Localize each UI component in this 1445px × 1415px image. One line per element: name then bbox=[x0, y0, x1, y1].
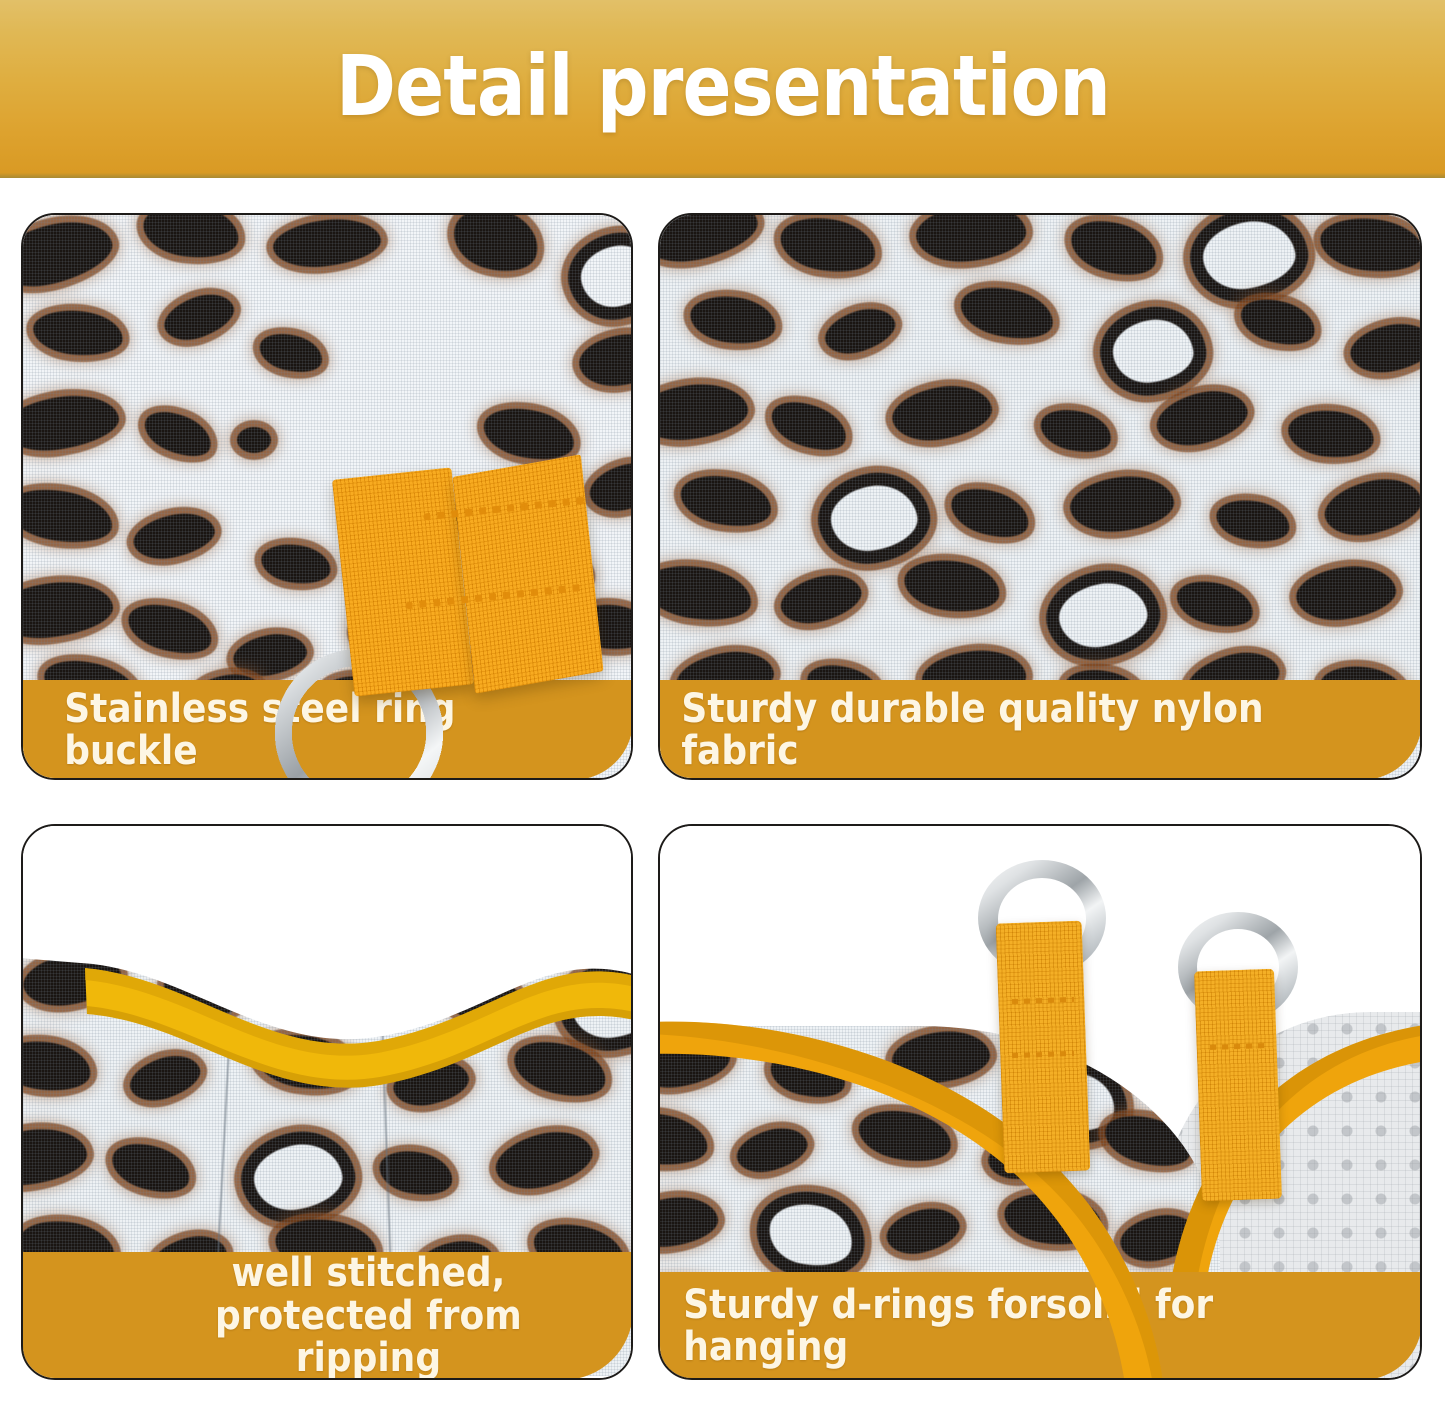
page-title: Detail presentation bbox=[336, 44, 1110, 134]
orange-webbing-strap bbox=[332, 467, 474, 696]
detail-cards-grid: Stainless steel ring buckle bbox=[0, 178, 1445, 1415]
d-ring-tab-rear bbox=[1194, 969, 1282, 1202]
caption-text: Sturdy durable quality nylon fabric bbox=[658, 688, 1346, 773]
d-rings-detail-photo bbox=[660, 826, 1420, 1378]
card-ring-buckle[interactable]: Stainless steel ring buckle bbox=[21, 213, 633, 780]
page-header: Detail presentation bbox=[0, 0, 1445, 178]
card-d-rings[interactable]: Sturdy d-rings forsolid for hanging bbox=[658, 824, 1422, 1380]
card-stitching[interactable]: well stitched, protected from ripping bbox=[21, 824, 633, 1380]
d-ring-tab-front bbox=[996, 921, 1091, 1174]
caption-text: well stitched, protected from ripping bbox=[21, 1252, 572, 1379]
card-caption-nylon-fabric: Sturdy durable quality nylon fabric bbox=[658, 680, 1422, 780]
orange-webbing-strap-upper bbox=[452, 454, 603, 693]
card-nylon-fabric[interactable]: Sturdy durable quality nylon fabric bbox=[658, 213, 1422, 780]
card-caption-stitching: well stitched, protected from ripping bbox=[21, 1252, 633, 1380]
